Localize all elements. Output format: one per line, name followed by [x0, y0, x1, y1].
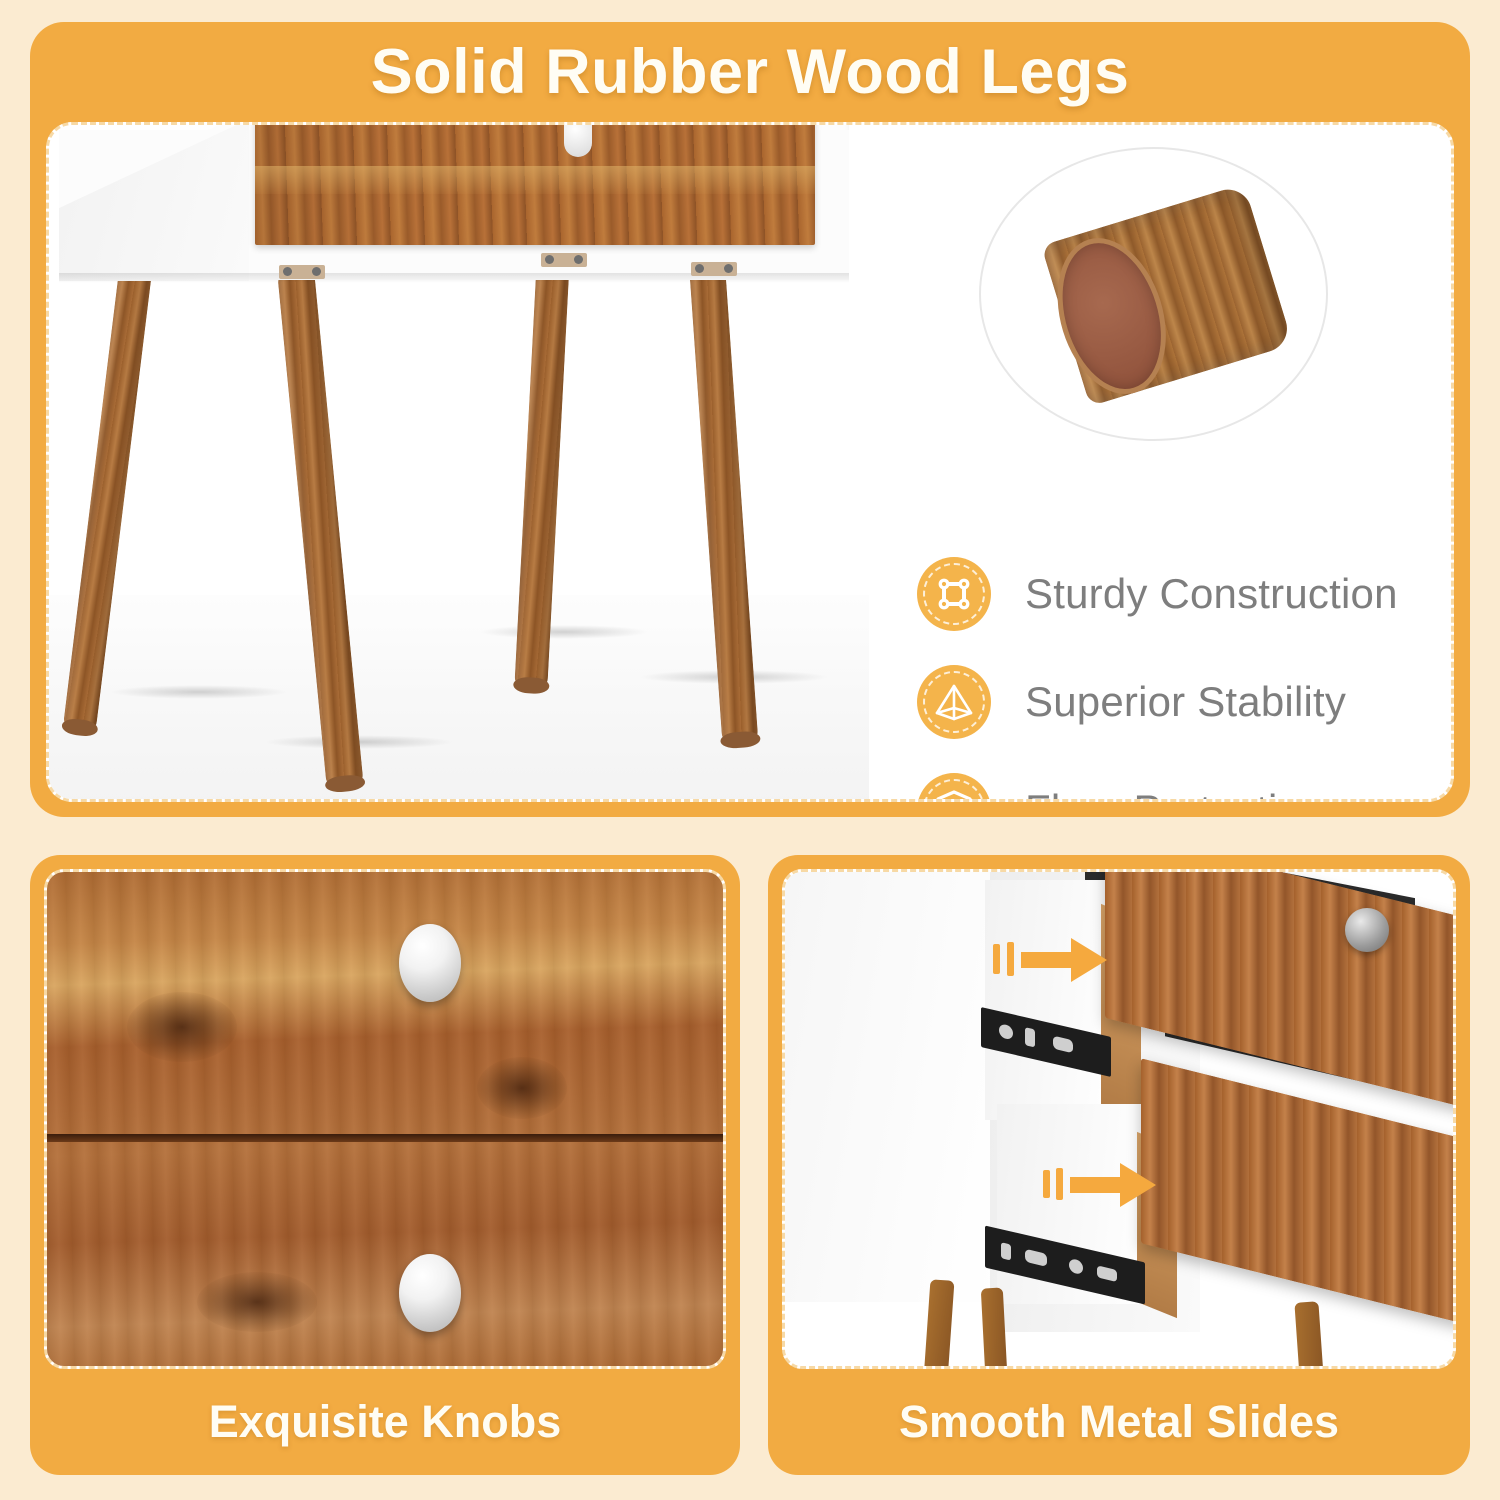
feature-list: Sturdy Construction Superior Stability: [917, 557, 1447, 802]
leg-bracket: [279, 265, 325, 279]
feature-item-superior-stability: Superior Stability: [917, 665, 1447, 739]
wood-texture: [47, 872, 723, 1366]
leg-shadow: [479, 625, 649, 639]
panel-caption: Smooth Metal Slides: [768, 1369, 1470, 1475]
feature-item-floor-protection: Floor Protection: [917, 773, 1447, 802]
leg-shadow: [109, 685, 289, 699]
feature-label: Superior Stability: [1025, 678, 1346, 726]
top-photo-card: Sturdy Construction Superior Stability: [46, 122, 1454, 802]
leg-bracket: [541, 253, 587, 267]
table-leg: [981, 1287, 1007, 1369]
caption-text: Exquisite Knobs: [209, 1396, 562, 1448]
leg-tip-closeup: [979, 147, 1328, 441]
bottom-panel-knobs: Exquisite Knobs: [30, 855, 740, 1475]
pyramid-icon: [917, 665, 991, 739]
product-infographic: Solid Rubber Wood Legs: [0, 0, 1500, 1500]
drawer-gap-line: [47, 1134, 723, 1142]
top-feature-panel: Solid Rubber Wood Legs: [30, 22, 1470, 817]
page-title: Solid Rubber Wood Legs: [371, 36, 1130, 108]
drawer-knob: [399, 924, 461, 1002]
drawer-knob-upper: [1345, 908, 1389, 952]
bottom-panel-slides: Smooth Metal Slides: [768, 855, 1470, 1475]
leg-bracket: [691, 262, 737, 276]
leg-barrel: [1041, 184, 1293, 407]
shield-check-icon: [917, 773, 991, 802]
title-band: Solid Rubber Wood Legs: [30, 22, 1470, 122]
drawer-front-wood: [255, 125, 815, 245]
drawer-knob: [399, 1254, 461, 1332]
wood-knot: [197, 1272, 317, 1332]
cabinet-front-face: [785, 872, 995, 1302]
drawer-box-upper: [985, 880, 1115, 1120]
caption-text: Smooth Metal Slides: [899, 1396, 1339, 1448]
leg-floor-pad: [1040, 225, 1184, 408]
wood-knot: [127, 992, 237, 1062]
node-structure-icon: [917, 557, 991, 631]
panel-caption: Exquisite Knobs: [30, 1369, 740, 1475]
feature-item-sturdy-construction: Sturdy Construction: [917, 557, 1447, 631]
nightstand-legs-photo: [49, 125, 869, 802]
feature-label: Floor Protection: [1025, 786, 1325, 802]
wood-knot: [477, 1057, 567, 1119]
metal-slides-photo: [782, 869, 1456, 1369]
drawer-knobs-photo: [44, 869, 726, 1369]
drawer-knob: [564, 125, 592, 157]
feature-label: Sturdy Construction: [1025, 570, 1398, 618]
